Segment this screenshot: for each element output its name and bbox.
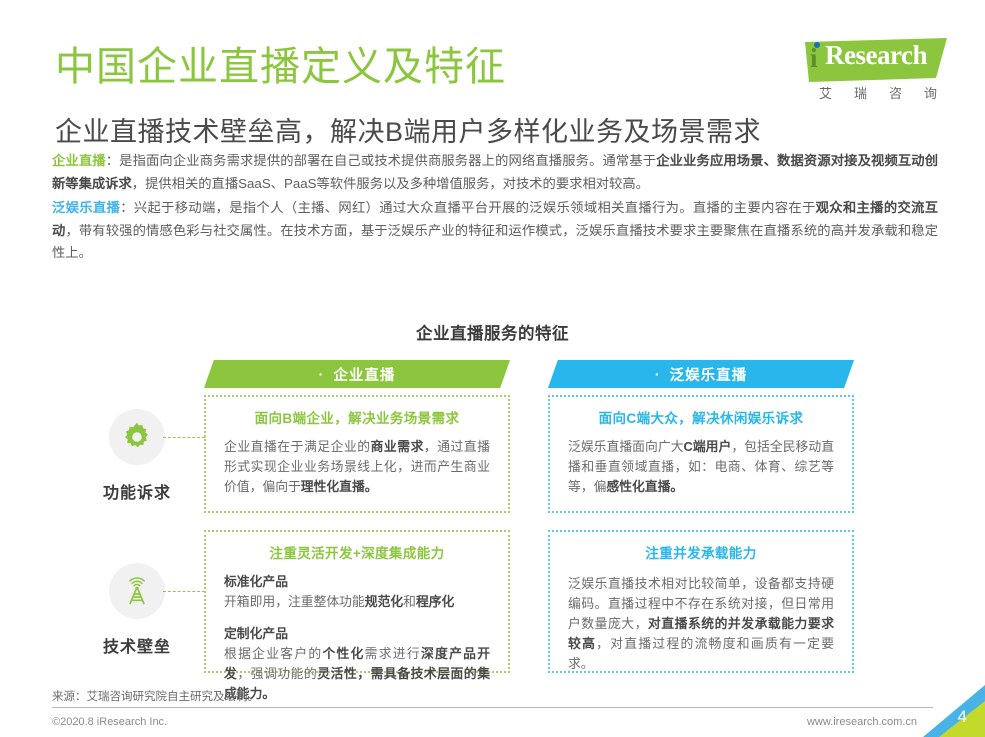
body-text: ，提供相关的直播SaaS、PaaS等软件服务以及多种增值服务，对技术的要求相对较… [132, 176, 649, 191]
corner-decoration [901, 685, 985, 737]
row-label-tech-barrier-text: 技术壁垒 [82, 633, 192, 657]
body-text: 需求进行 [365, 646, 421, 661]
emphasis-text: 理性化直播。 [301, 479, 378, 494]
cell-tech-enterprise: 注重灵活开发+深度集成能力 标准化产品开箱即用，注重整体功能规范化和程序化定制化… [204, 530, 510, 673]
bullet-dot-icon: · [319, 367, 325, 381]
emphasis-text: 个性化 [322, 646, 364, 661]
row-label-function-demand-text: 功能诉求 [82, 479, 192, 503]
page-subtitle: 企业直播技术壁垒高，解决B端用户多样化业务及场景需求 [55, 110, 761, 149]
paragraph-colon: ： [120, 200, 134, 215]
connector-line-row1 [163, 437, 205, 438]
cell-heading: 面向B端企业，解决业务场景需求 [224, 407, 490, 427]
cell-body: 企业直播在于满足企业的商业需求，通过直播形式实现企业业务场景线上化，进而产生商业… [224, 437, 490, 497]
page-title: 中国企业直播定义及特征 [55, 44, 506, 90]
emphasis-text: 商业需求 [371, 439, 424, 454]
body-text: ，对直播过程的流畅度和画质有一定要求。 [568, 636, 834, 671]
broadcast-tower-icon [121, 575, 153, 607]
paragraph-colon: ： [106, 153, 119, 168]
corner-wedge-icon [901, 685, 985, 737]
cell-function-entertainment: 面向C端大众，解决休闲娱乐诉求 泛娱乐直播面向广大C端用户，包括全民移动直播和垂… [548, 395, 854, 513]
row-label-tech-barrier: 技术壁垒 [82, 563, 192, 657]
column-header-enterprise: · 企业直播 [204, 360, 510, 388]
body-text: 开箱即用，注重整体功能 [224, 594, 365, 609]
source-note: 来源：艾瑞咨询研究院自主研究及绘制。 [52, 688, 259, 704]
cell-body: 泛娱乐直播面向广大C端用户，包括全民移动直播和垂直领域直播，如：电商、体育、综艺… [568, 437, 834, 497]
body-text: 和 [403, 594, 416, 609]
cell-body: 泛娱乐直播技术相对比较简单，设备都支持硬编码。直播过程中不存在系统对接，但日常用… [568, 574, 834, 674]
cell-tech-entertainment: 注重并发承载能力 泛娱乐直播技术相对比较简单，设备都支持硬编码。直播过程中不存在… [548, 530, 854, 673]
emphasis-text: 感性化直播。 [606, 479, 683, 494]
copyright-text: ©2020.8 iResearch Inc. [52, 716, 167, 728]
iresearch-logo: i Research 艾 瑞 咨 询 [805, 38, 947, 108]
row-label-function-demand: 功能诉求 [82, 409, 192, 503]
body-text-block: 企业直播：是指面向企业商务需求提供的部署在自己或技术提供商服务器上的网络直播服务… [52, 150, 938, 265]
footer-divider [52, 707, 933, 708]
definition-paragraph-enterprise: 企业直播：是指面向企业商务需求提供的部署在自己或技术提供商服务器上的网络直播服务… [52, 150, 938, 195]
logo-cn-char-2: 咨 [889, 83, 902, 102]
column-header-entertainment: · 泛娱乐直播 [548, 360, 854, 388]
bullet-dot-icon: · [655, 367, 661, 381]
logo-wordmark: Research [825, 40, 927, 71]
body-text: 兴起于移动端，是指个人（主播、网红）通过大众直播平台开展的泛娱乐领域相关直播行为… [134, 200, 816, 215]
broadcast-tower-icon-container [109, 563, 165, 619]
body-text: ，强调功能的 [237, 666, 317, 681]
slide-root: i Research 艾 瑞 咨 询 中国企业直播定义及特征 企业直播技术壁垒高… [0, 0, 985, 737]
logo-cn-char-1: 瑞 [854, 83, 867, 102]
column-header-entertainment-label: 泛娱乐直播 [670, 364, 748, 385]
logo-cn-char-0: 艾 [819, 83, 832, 102]
emphasis-text: 规范化 [365, 594, 403, 609]
column-header-enterprise-label: 企业直播 [333, 364, 395, 385]
cell-subbody: 根据企业客户的个性化需求进行深度产品开发，强调功能的灵活性，需具备技术层面的集成… [224, 644, 490, 704]
paragraph-lead-term: 泛娱乐直播 [52, 200, 120, 215]
cell-heading: 注重并发承载能力 [568, 542, 834, 562]
cell-subbody: 开箱即用，注重整体功能规范化和程序化 [224, 592, 490, 612]
body-text: 企业直播在于满足企业的 [224, 439, 371, 454]
cell-subheading: 定制化产品 [224, 624, 490, 644]
cell-subheading: 标准化产品 [224, 572, 490, 592]
definition-paragraph-entertainment: 泛娱乐直播：兴起于移动端，是指个人（主播、网红）通过大众直播平台开展的泛娱乐领域… [52, 197, 938, 265]
emphasis-text: C端用户 [684, 439, 732, 454]
body-text: 根据企业客户的 [224, 646, 322, 661]
cell-body: 标准化产品开箱即用，注重整体功能规范化和程序化定制化产品根据企业客户的个性化需求… [224, 572, 490, 704]
body-text: ，带有较强的情感色彩与社交属性。在技术方面，基于泛娱乐产业的特征和运作模式，泛娱… [52, 223, 938, 261]
logo-chinese-name: 艾 瑞 咨 询 [819, 83, 937, 102]
cell-function-enterprise: 面向B端企业，解决业务场景需求 企业直播在于满足企业的商业需求，通过直播形式实现… [204, 395, 510, 513]
cell-heading: 面向C端大众，解决休闲娱乐诉求 [568, 407, 834, 427]
gear-icon-container [109, 409, 165, 465]
body-text: 是指面向企业商务需求提供的部署在自己或技术提供商服务器上的网络直播服务。通常基于 [119, 153, 656, 168]
logo-cn-char-3: 询 [924, 83, 937, 102]
connector-line-row2 [163, 591, 205, 592]
page-number: 4 [958, 707, 967, 727]
logo-i-dot-icon [814, 42, 820, 48]
figure-title: 企业直播服务的特征 [0, 320, 985, 344]
emphasis-text: 程序化 [416, 594, 454, 609]
cell-heading: 注重灵活开发+深度集成能力 [224, 542, 490, 562]
body-text: 泛娱乐直播面向广大 [568, 439, 684, 454]
spacer [224, 612, 490, 624]
gear-icon [122, 422, 152, 452]
paragraph-lead-term: 企业直播 [52, 153, 106, 168]
